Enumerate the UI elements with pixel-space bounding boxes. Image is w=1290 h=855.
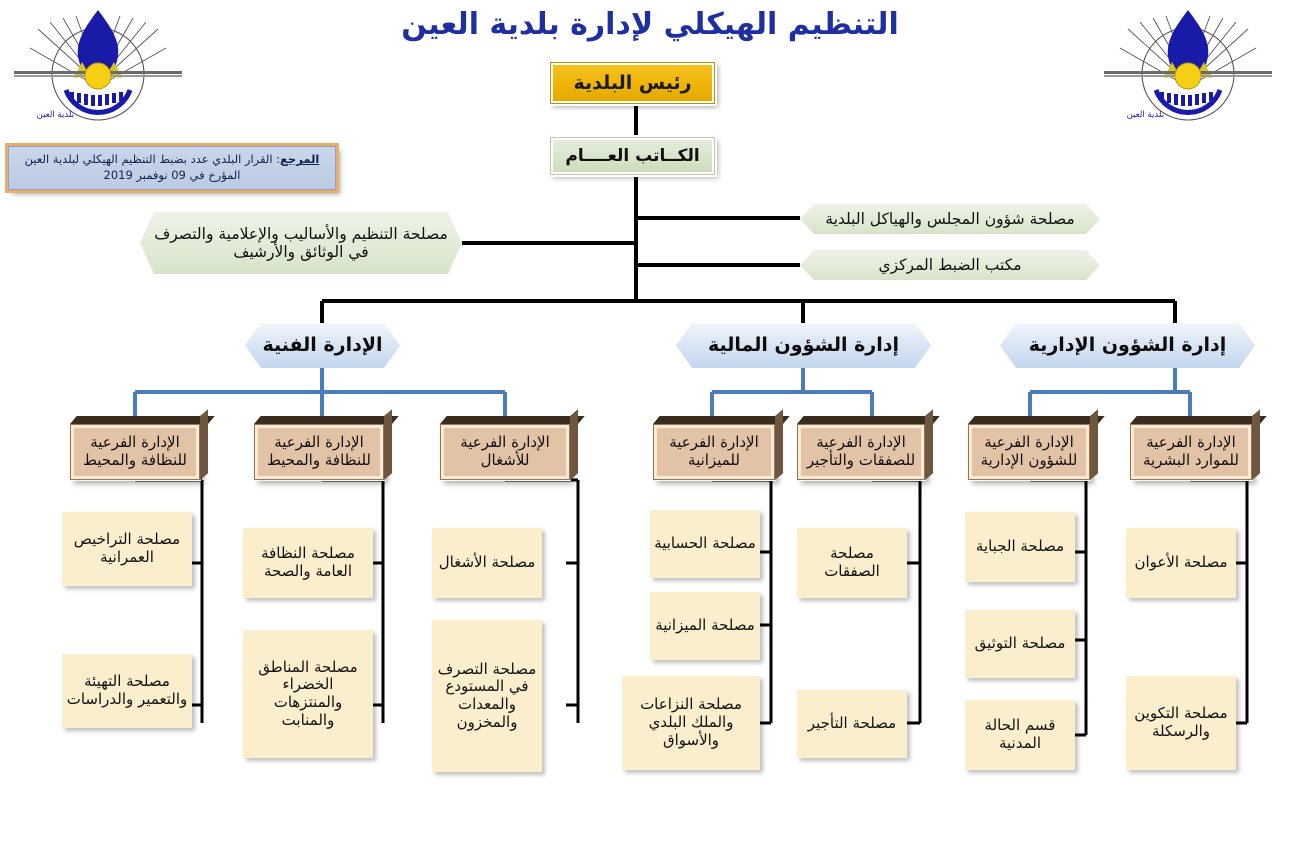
node-service-stores-equipment[interactable]: مصلحة التصرف في المستودع والمعدات والمخز…	[432, 620, 542, 772]
node-service-training[interactable]: مصلحة التكوين والرسكلة	[1126, 676, 1236, 770]
node-department-technical[interactable]: الإدارة الفنية	[245, 323, 400, 368]
org-chart-page: بلدية العين	[0, 0, 1290, 855]
node-service-urban-licences[interactable]: مصلحة التراخيص العمرانية	[62, 512, 192, 586]
node-service-disputes-markets[interactable]: مصلحة النزاعات والملك البلدي والأسواق	[622, 676, 760, 770]
node-service-accounting[interactable]: مصلحة الحسابية	[650, 510, 760, 578]
page-title: التنظيم الهيكلي لإدارة بلدية العين	[330, 8, 970, 43]
node-service-markets[interactable]: مصلحة الصفقات	[797, 528, 907, 598]
node-service-budget[interactable]: مصلحة الميزانية	[650, 592, 760, 660]
logo-caption: بلدية العين	[1127, 110, 1164, 120]
logo-right: بلدية العين	[1098, 4, 1278, 129]
node-staff-organization-service[interactable]: مصلحة التنظيم والأساليب والإعلامية والتص…	[140, 212, 462, 274]
reference-note: المرجع: القرار البلدي عدد بضبط التنظيم ا…	[8, 146, 336, 190]
logo-left: بلدية العين	[8, 4, 188, 129]
node-secretary-general[interactable]: الكــاتب العــــام	[550, 137, 715, 175]
node-service-green-areas[interactable]: مصلحة المناطق الخضراء والمنتزهات والمناب…	[243, 630, 373, 758]
node-service-documentation[interactable]: مصلحة التوثيق	[965, 610, 1075, 678]
logo-caption: بلدية العين	[37, 110, 74, 120]
node-subdepartment-admin-affairs[interactable]: الإدارة الفرعية للشؤون الإدارية	[968, 424, 1090, 480]
node-staff-central-registry[interactable]: مكتب الضبط المركزي	[800, 250, 1100, 280]
baladiat-elain-logo-icon: بلدية العين	[1098, 4, 1278, 129]
node-subdepartment-hygiene-1[interactable]: الإدارة الفرعية للنظافة والمحيط	[70, 424, 200, 480]
node-subdepartment-budget[interactable]: الإدارة الفرعية للميزانية	[653, 424, 775, 480]
node-service-planning-studies[interactable]: مصلحة التهيئة والتعمير والدراسات	[62, 654, 192, 728]
node-department-finance[interactable]: إدارة الشؤون المالية	[676, 323, 931, 368]
reference-line-1: المرجع: القرار البلدي عدد بضبط التنظيم ا…	[25, 152, 320, 168]
node-president[interactable]: رئيس البلدية	[550, 62, 715, 104]
baladiat-elain-logo-icon: بلدية العين	[8, 4, 188, 129]
reference-label: المرجع	[280, 152, 319, 166]
node-subdepartment-human-resources[interactable]: الإدارة الفرعية للموارد البشرية	[1130, 424, 1252, 480]
node-subdepartment-markets-rental[interactable]: الإدارة الفرعية للصفقات والتأجير	[797, 424, 925, 480]
node-department-administrative[interactable]: إدارة الشؤون الإدارية	[1000, 323, 1255, 368]
node-subdepartment-works[interactable]: الإدارة الفرعية للأشغال	[440, 424, 570, 480]
node-service-agents[interactable]: مصلحة الأعوان	[1126, 528, 1236, 598]
node-subdepartment-hygiene-2[interactable]: الإدارة الفرعية للنظافة والمحيط	[254, 424, 384, 480]
node-service-public-hygiene[interactable]: مصلحة النظافة العامة والصحة	[243, 528, 373, 598]
node-staff-council-service[interactable]: مصلحة شؤون المجلس والهياكل البلدية	[800, 204, 1100, 234]
node-service-civil-status[interactable]: قسم الحالة المدنية	[965, 700, 1075, 770]
node-service-taxation[interactable]: مصلحة الجباية	[965, 512, 1075, 582]
node-service-works[interactable]: مصلحة الأشغال	[432, 528, 542, 598]
reference-line-2: المؤرخ في 09 نوفمبر 2019	[104, 168, 241, 184]
node-service-rental[interactable]: مصلحة التأجير	[797, 690, 907, 758]
